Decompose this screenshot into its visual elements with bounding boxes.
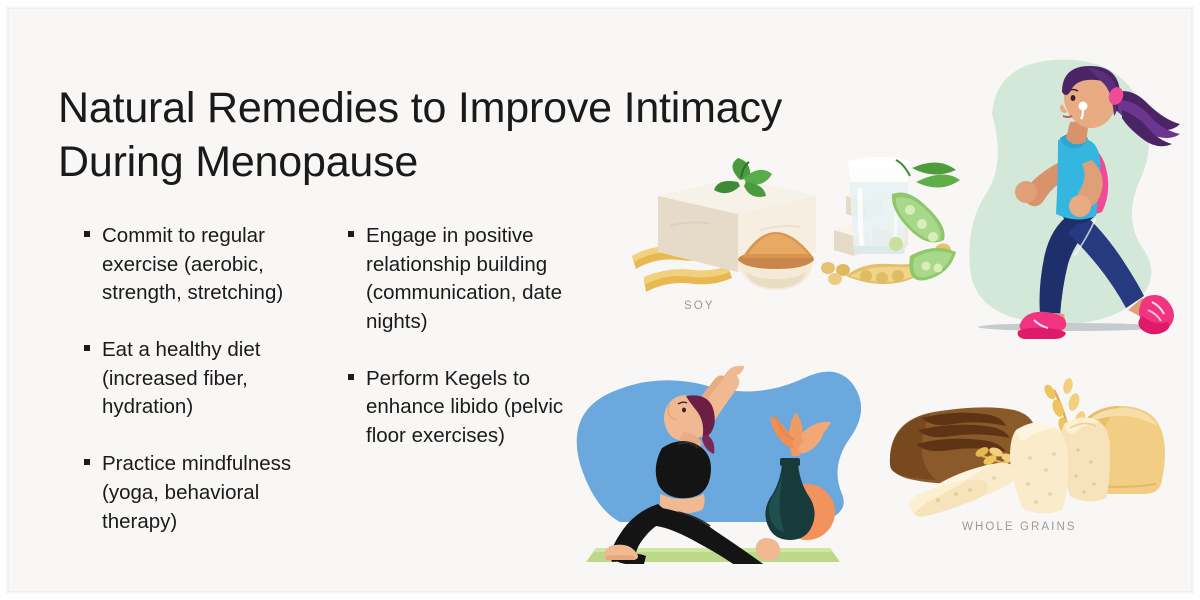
list-item-text: Engage in positive relationship building… [366, 224, 562, 333]
list-item: Perform Kegels to enhance libido (pelvic… [348, 365, 600, 451]
bullet-column-right: Engage in positive relationship building… [348, 222, 600, 451]
ground-shadow [978, 323, 1162, 331]
square-bullet-icon [348, 231, 354, 237]
list-item-text: Practice mindfulness (yoga, behavioral t… [102, 452, 291, 532]
back-foot [756, 538, 781, 560]
square-bullet-icon [348, 374, 354, 380]
title-line-1: Natural Remedies to Improve Intimacy [58, 81, 938, 135]
list-item: Eat a healthy diet (increased fiber, hyd… [84, 336, 334, 422]
title-line-2: During Menopause [58, 135, 938, 189]
square-bullet-icon [84, 231, 90, 237]
eye [1071, 95, 1076, 101]
whole-grains-caption: WHOLE GRAINS [962, 521, 1077, 533]
square-bullet-icon [84, 345, 90, 351]
runner-illustration [952, 48, 1184, 348]
list-item: Commit to regular exercise (aerobic, str… [84, 222, 334, 308]
bread-slices-icon [1010, 417, 1110, 513]
list-item-text: Eat a healthy diet (increased fiber, hyd… [102, 338, 260, 418]
list-item: Practice mindfulness (yoga, behavioral t… [84, 450, 334, 536]
soybeans-icon [821, 262, 850, 285]
list-item: Engage in positive relationship building… [348, 222, 600, 337]
square-bullet-icon [84, 459, 90, 465]
page-title: Natural Remedies to Improve Intimacy Dur… [58, 81, 938, 189]
yoga-illustration [558, 352, 870, 564]
eye [682, 408, 686, 413]
list-item-text: Perform Kegels to enhance libido (pelvic… [366, 367, 563, 447]
bullet-column-left: Commit to regular exercise (aerobic, str… [84, 222, 334, 536]
list-item-text: Commit to regular exercise (aerobic, str… [102, 224, 283, 304]
soy-caption: SOY [684, 300, 715, 312]
bread-illustration [878, 368, 1168, 520]
sports-bra [656, 441, 711, 498]
infographic-canvas: Natural Remedies to Improve Intimacy Dur… [0, 0, 1200, 600]
